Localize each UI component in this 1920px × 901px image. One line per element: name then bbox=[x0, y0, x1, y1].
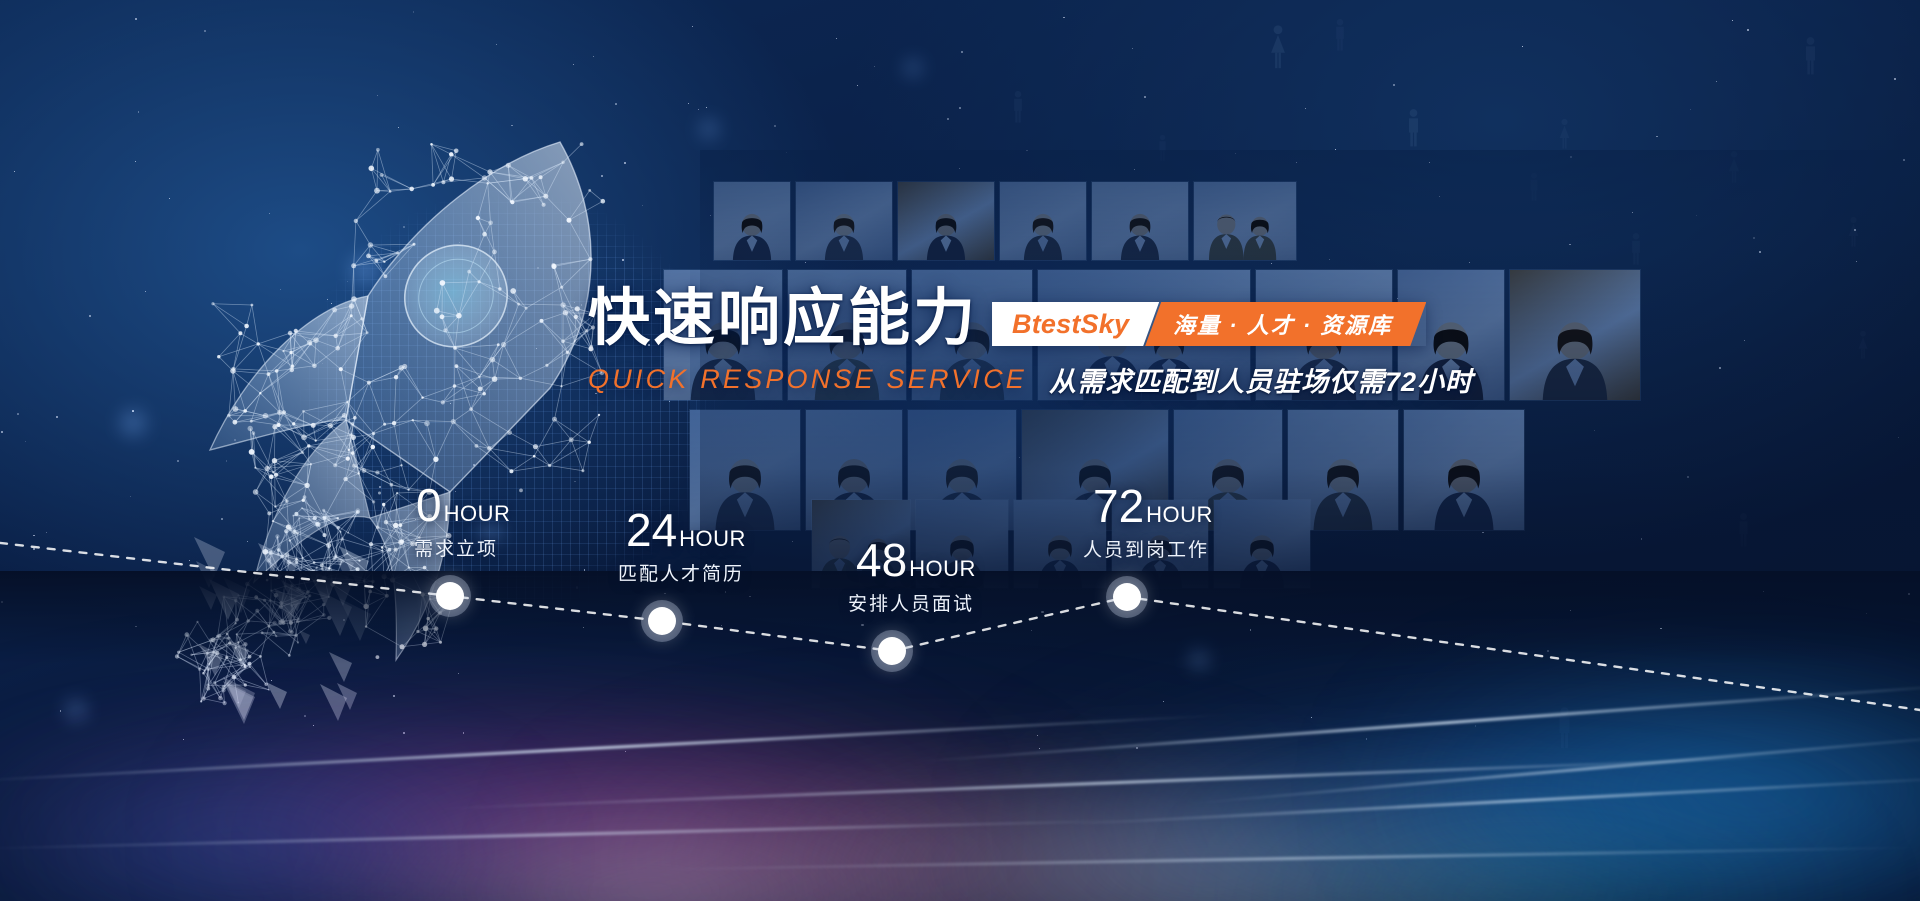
aurora-glow bbox=[760, 786, 1660, 901]
tile-backdrop bbox=[1092, 182, 1188, 260]
aurora-glow bbox=[980, 691, 1920, 901]
portrait-tile bbox=[1510, 270, 1640, 400]
portrait-figure bbox=[1427, 456, 1501, 530]
person-silhouette-icon bbox=[1800, 36, 1821, 76]
star-dot bbox=[1429, 162, 1430, 163]
star-dot bbox=[1547, 650, 1549, 652]
timeline-node-unit: HOUR bbox=[679, 526, 746, 551]
glow-blob bbox=[700, 120, 718, 138]
tile-backdrop bbox=[714, 182, 790, 260]
star-dot bbox=[135, 161, 136, 162]
star-dot bbox=[56, 416, 58, 418]
aurora-glow bbox=[0, 771, 540, 901]
star-dot bbox=[33, 548, 35, 550]
star-dot bbox=[135, 626, 137, 628]
star-dot bbox=[1132, 48, 1133, 49]
star-dot bbox=[749, 596, 751, 598]
person-silhouette-icon bbox=[1266, 24, 1290, 70]
star-dot bbox=[1908, 593, 1910, 595]
timeline-node-dot-icon[interactable] bbox=[1113, 583, 1141, 611]
portrait-tile bbox=[1214, 500, 1310, 588]
star-dot bbox=[1475, 725, 1477, 727]
portrait-tile bbox=[1000, 182, 1086, 260]
aurora-glow bbox=[1350, 661, 1920, 901]
star-dot bbox=[1311, 717, 1312, 718]
timeline-node-dot-icon[interactable] bbox=[648, 607, 676, 635]
timeline-node-hours: 72HOUR bbox=[1093, 483, 1213, 529]
star-dot bbox=[1660, 628, 1662, 630]
aurora-glow bbox=[1180, 821, 1880, 901]
star-dot bbox=[1037, 735, 1038, 736]
star-dot bbox=[786, 152, 788, 154]
star-dot bbox=[304, 715, 306, 717]
star-dot bbox=[836, 38, 837, 39]
star-dot bbox=[1026, 150, 1028, 152]
portrait-figure bbox=[1033, 533, 1088, 588]
star-dot bbox=[313, 725, 314, 726]
portrait-tile bbox=[898, 182, 994, 260]
aurora-arc bbox=[1051, 774, 1920, 827]
star-dot bbox=[1700, 580, 1702, 582]
person-silhouette-icon bbox=[1553, 706, 1576, 750]
star-dot bbox=[1570, 156, 1572, 158]
timeline-node-value: 48 bbox=[856, 534, 907, 586]
tile-backdrop bbox=[1510, 270, 1640, 400]
portrait-row bbox=[714, 182, 1302, 260]
star-dot bbox=[692, 26, 693, 27]
portrait-figure bbox=[728, 212, 776, 260]
star-dot bbox=[1570, 610, 1571, 611]
glow-blob bbox=[120, 410, 146, 436]
aurora-arc bbox=[0, 818, 1160, 850]
star-dot bbox=[130, 496, 131, 497]
headline-row-primary: 快速响应能力 BtestSky 海量 · 人才 · 资源库 bbox=[588, 288, 1473, 350]
hero-banner: 快速响应能力 BtestSky 海量 · 人才 · 资源库 QUICK RESP… bbox=[0, 0, 1920, 901]
tile-backdrop bbox=[1214, 500, 1310, 588]
timeline-node-unit: HOUR bbox=[1146, 502, 1213, 527]
brand-tagline: 海量 · 人才 · 资源库 bbox=[1145, 302, 1426, 346]
headline-subtitle: 从需求匹配到人员驻场仅需72小时 bbox=[1049, 360, 1473, 399]
tile-backdrop bbox=[796, 182, 892, 260]
star-dot bbox=[14, 171, 16, 173]
timeline-node-hours: 48HOUR bbox=[856, 537, 976, 583]
star-dot bbox=[393, 695, 395, 697]
portrait-tile bbox=[796, 182, 892, 260]
person-silhouette-icon bbox=[1009, 90, 1027, 124]
star-dot bbox=[132, 410, 134, 412]
star-dot bbox=[1903, 159, 1905, 161]
page-title: 快速响应能力 bbox=[588, 288, 978, 350]
timeline-node-unit: HOUR bbox=[909, 556, 976, 581]
star-dot bbox=[1136, 747, 1138, 749]
timeline-node-hours: 24HOUR bbox=[626, 507, 746, 553]
star-dot bbox=[625, 751, 626, 752]
star-dot bbox=[1063, 17, 1064, 18]
timeline-node-label: 人员到岗工作 bbox=[1083, 535, 1209, 562]
portrait-figure bbox=[1235, 533, 1290, 588]
star-dot bbox=[1393, 84, 1395, 86]
star-dot bbox=[774, 125, 776, 127]
person-silhouette-icon bbox=[1403, 108, 1424, 148]
star-dot bbox=[377, 95, 378, 96]
star-dot bbox=[183, 739, 184, 740]
portrait-figure bbox=[922, 212, 970, 260]
star-dot bbox=[1235, 153, 1236, 154]
star-dot bbox=[688, 103, 689, 104]
timeline-node-value: 24 bbox=[626, 504, 677, 556]
portrait-tile bbox=[714, 182, 790, 260]
portrait-figure bbox=[1535, 319, 1616, 400]
timeline-node-value: 72 bbox=[1093, 480, 1144, 532]
portrait-figure bbox=[1204, 212, 1286, 260]
aurora-arc bbox=[420, 754, 1819, 811]
star-dot bbox=[1163, 701, 1164, 702]
person-silhouette-icon bbox=[1331, 18, 1349, 52]
star-dot bbox=[1031, 630, 1032, 631]
portrait-tile bbox=[1194, 182, 1296, 260]
timeline-node-label: 需求立项 bbox=[414, 534, 498, 561]
glow-blob bbox=[905, 60, 921, 76]
star-dot bbox=[496, 44, 497, 45]
star-dot bbox=[1039, 748, 1040, 749]
portrait-figure bbox=[1019, 212, 1067, 260]
portrait-tile bbox=[1092, 182, 1188, 260]
aurora-arc bbox=[0, 713, 1239, 784]
star-dot bbox=[861, 624, 863, 626]
glow-blob bbox=[1190, 650, 1208, 668]
aurora-glow bbox=[300, 826, 1000, 901]
person-silhouette-icon bbox=[1556, 118, 1573, 150]
aurora-glow bbox=[0, 701, 980, 901]
star-dot bbox=[1866, 613, 1867, 614]
headline-english: QUICK RESPONSE SERVICE bbox=[588, 364, 1027, 395]
star-dot bbox=[135, 18, 137, 20]
star-dot bbox=[463, 732, 465, 734]
tile-backdrop bbox=[1000, 182, 1086, 260]
star-dot bbox=[874, 66, 875, 67]
star-dot bbox=[204, 30, 206, 32]
headline-row-secondary: QUICK RESPONSE SERVICE 从需求匹配到人员驻场仅需72小时 bbox=[588, 360, 1473, 399]
aurora-glow bbox=[520, 766, 1320, 901]
aurora-arc bbox=[1181, 731, 1920, 805]
star-dot bbox=[573, 64, 574, 65]
headline-block: 快速响应能力 BtestSky 海量 · 人才 · 资源库 QUICK RESP… bbox=[588, 288, 1473, 399]
star-dot bbox=[413, 11, 415, 13]
tile-backdrop bbox=[1404, 410, 1524, 530]
star-dot bbox=[959, 107, 961, 109]
glow-blob bbox=[66, 700, 86, 720]
star-dot bbox=[89, 315, 91, 317]
timeline-node-hours: 0HOUR bbox=[416, 482, 510, 528]
aurora-arc bbox=[901, 681, 1920, 765]
portrait-figure bbox=[820, 212, 868, 260]
star-dot bbox=[1366, 738, 1368, 740]
star-dot bbox=[271, 680, 272, 681]
star-dot bbox=[145, 291, 146, 292]
timeline-node-unit: HOUR bbox=[444, 501, 511, 526]
star-dot bbox=[615, 103, 617, 105]
star-dot bbox=[698, 109, 699, 110]
tile-backdrop bbox=[898, 182, 994, 260]
timeline-node-value: 0 bbox=[416, 479, 442, 531]
timeline-node-dot-icon[interactable] bbox=[878, 637, 906, 665]
star-dot bbox=[25, 441, 26, 442]
star-dot bbox=[725, 591, 726, 592]
star-dot bbox=[1894, 78, 1896, 80]
tile-backdrop bbox=[1194, 182, 1296, 260]
person-silhouette-icon bbox=[1155, 134, 1170, 162]
star-dot bbox=[1732, 20, 1733, 21]
star-dot bbox=[138, 111, 140, 113]
star-dot bbox=[961, 51, 963, 53]
star-dot bbox=[1335, 149, 1336, 150]
star-dot bbox=[46, 532, 47, 533]
star-dot bbox=[33, 535, 34, 536]
star-dot bbox=[857, 85, 858, 86]
star-dot bbox=[1690, 109, 1692, 111]
star-dot bbox=[593, 56, 594, 57]
star-dot bbox=[1747, 29, 1749, 31]
star-dot bbox=[1716, 81, 1717, 82]
star-dot bbox=[721, 625, 722, 626]
star-dot bbox=[1522, 46, 1523, 47]
star-dot bbox=[403, 732, 405, 734]
star-dot bbox=[1250, 629, 1252, 631]
brand-badge: BtestSky 海量 · 人才 · 资源库 bbox=[992, 302, 1426, 346]
aurora-arc bbox=[640, 846, 1920, 872]
portrait-tile bbox=[1404, 410, 1524, 530]
star-dot bbox=[1296, 162, 1297, 163]
brand-name: BtestSky bbox=[992, 302, 1159, 346]
star-dot bbox=[1305, 108, 1307, 110]
timeline-node-label: 安排人员面试 bbox=[848, 589, 974, 616]
star-dot bbox=[947, 118, 949, 120]
star-dot bbox=[17, 413, 19, 415]
timeline-node-dot-icon[interactable] bbox=[436, 582, 464, 610]
star-dot bbox=[1, 601, 3, 603]
star-dot bbox=[1041, 611, 1043, 613]
star-dot bbox=[1, 431, 3, 433]
star-dot bbox=[1144, 96, 1146, 98]
star-dot bbox=[1763, 591, 1764, 592]
portrait-figure bbox=[1306, 456, 1380, 530]
star-dot bbox=[706, 107, 707, 108]
timeline-node-label: 匹配人才简历 bbox=[618, 559, 744, 586]
star-dot bbox=[60, 710, 62, 712]
portrait-figure bbox=[1116, 212, 1164, 260]
rocket-wireframe-icon bbox=[150, 120, 670, 680]
star-dot bbox=[1656, 136, 1658, 138]
aurora-glow bbox=[180, 731, 1080, 901]
